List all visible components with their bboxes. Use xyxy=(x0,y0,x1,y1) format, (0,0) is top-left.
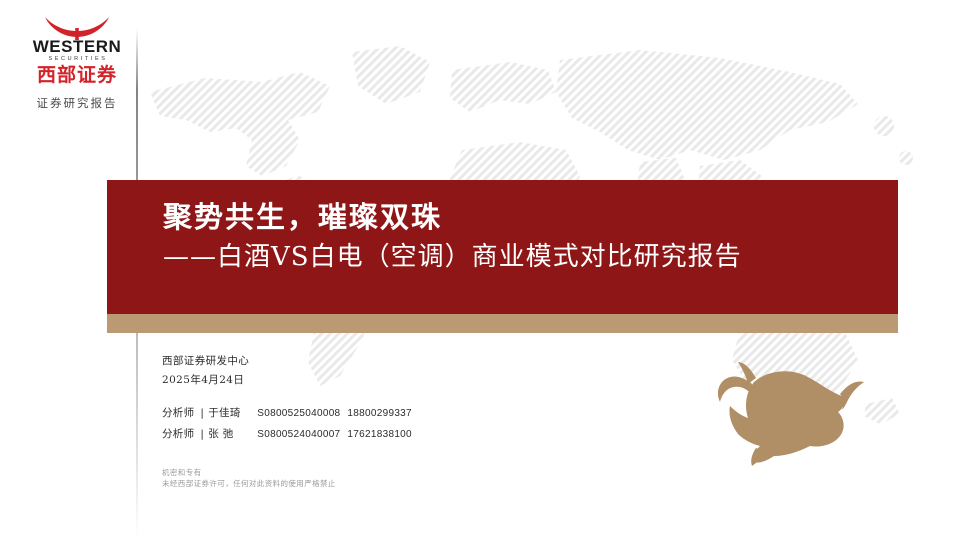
meta-spacer xyxy=(162,390,412,403)
analyst-role-label: 分析师 xyxy=(162,407,194,419)
page-subtitle: ——白酒VS白电（空调）商业模式对比研究报告 xyxy=(163,236,742,273)
analyst-name: 张 弛 xyxy=(208,424,252,444)
analyst-license-code: S0800524040007 xyxy=(257,429,340,440)
analyst-role-label: 分析师 xyxy=(162,428,194,440)
logo-wordmark-en: WESTERN xyxy=(22,38,132,56)
analyst-phone: 18800299337 xyxy=(347,408,411,419)
report-cover-slide: WESTERN SECURITIES 西部证券 证券研究报告 聚势共生，璀璨双珠… xyxy=(0,0,960,540)
analyst-name: 于佳琦 xyxy=(208,403,252,423)
disclaimer-block: 机密和专有 未经西部证券许可，任何对此资料的使用严格禁止 xyxy=(162,467,336,489)
disclaimer-line-2: 未经西部证券许可，任何对此资料的使用严格禁止 xyxy=(162,478,336,489)
page-title: 聚势共生，璀璨双珠 xyxy=(163,194,442,236)
logo-wordmark-cn: 西部证券 xyxy=(22,64,132,86)
analyst-separator: | xyxy=(200,428,204,440)
analyst-license-code: S0800525040008 xyxy=(257,408,340,419)
bull-head-icon xyxy=(694,360,874,472)
logo-wordmark-en-sub: SECURITIES xyxy=(24,56,132,63)
report-date: 2025年4月24日 xyxy=(162,371,412,390)
analyst-row: 分析师|张 弛S080052404000717621838100 xyxy=(162,424,412,445)
disclaimer-line-1: 机密和专有 xyxy=(162,467,336,478)
logo-tagline: 证券研究报告 xyxy=(22,95,132,111)
analyst-separator: | xyxy=(200,407,204,419)
analyst-row: 分析师|于佳琦S080052504000818800299337 xyxy=(162,403,412,424)
analyst-phone: 17621838100 xyxy=(347,429,411,440)
title-banner-accent-bar xyxy=(107,314,898,333)
company-logo: WESTERN SECURITIES 西部证券 证券研究报告 xyxy=(22,14,132,111)
department-label: 西部证券研发中心 xyxy=(162,352,412,371)
meta-block: 西部证券研发中心 2025年4月24日 分析师|于佳琦S080052504000… xyxy=(162,352,412,445)
